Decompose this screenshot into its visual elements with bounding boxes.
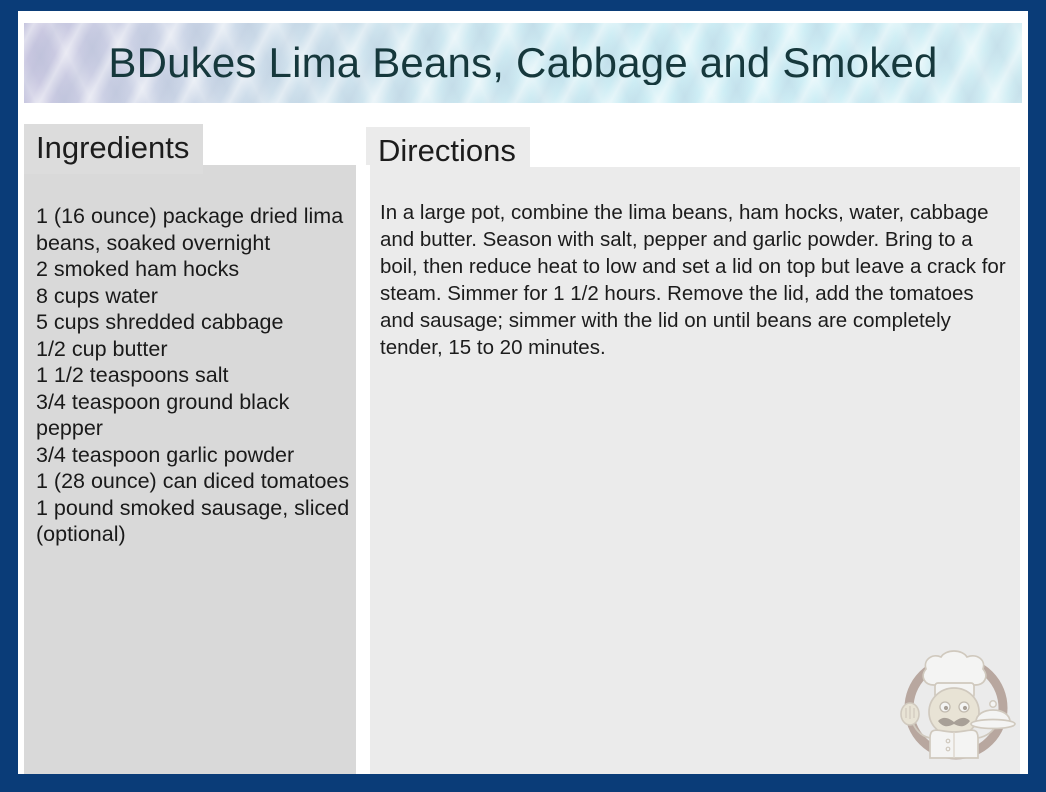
- directions-body: In a large pot, combine the lima beans, …: [366, 167, 1020, 361]
- list-item: 1 (16 ounce) package dried lima beans, s…: [36, 203, 352, 256]
- recipe-card: BDukes Lima Beans, Cabbage and Smoked: [0, 0, 1046, 792]
- list-item: 1 pound smoked sausage, sliced (optional…: [36, 495, 352, 548]
- list-item: 8 cups water: [36, 283, 352, 310]
- list-item: 1/2 cup butter: [36, 336, 352, 363]
- list-item: 1 (28 ounce) can diced tomatoes: [36, 468, 352, 495]
- directions-heading: Directions: [366, 127, 530, 177]
- column-divider: [356, 165, 370, 774]
- ingredients-panel: 1 (16 ounce) package dried lima beans, s…: [24, 165, 356, 774]
- list-item: 5 cups shredded cabbage: [36, 309, 352, 336]
- list-item: 2 smoked ham hocks: [36, 256, 352, 283]
- ingredients-list: 1 (16 ounce) package dried lima beans, s…: [24, 165, 356, 548]
- recipe-card-inner: BDukes Lima Beans, Cabbage and Smoked: [18, 11, 1028, 774]
- ingredients-heading: Ingredients: [24, 124, 203, 174]
- list-item: 3/4 teaspoon ground black pepper: [36, 389, 352, 442]
- list-item: 1 1/2 teaspoons salt: [36, 362, 352, 389]
- title-banner: BDukes Lima Beans, Cabbage and Smoked: [24, 23, 1022, 103]
- page-title: BDukes Lima Beans, Cabbage and Smoked: [24, 41, 1022, 85]
- list-item: 3/4 teaspoon garlic powder: [36, 442, 352, 469]
- chef-mascot-logo: [890, 642, 1022, 766]
